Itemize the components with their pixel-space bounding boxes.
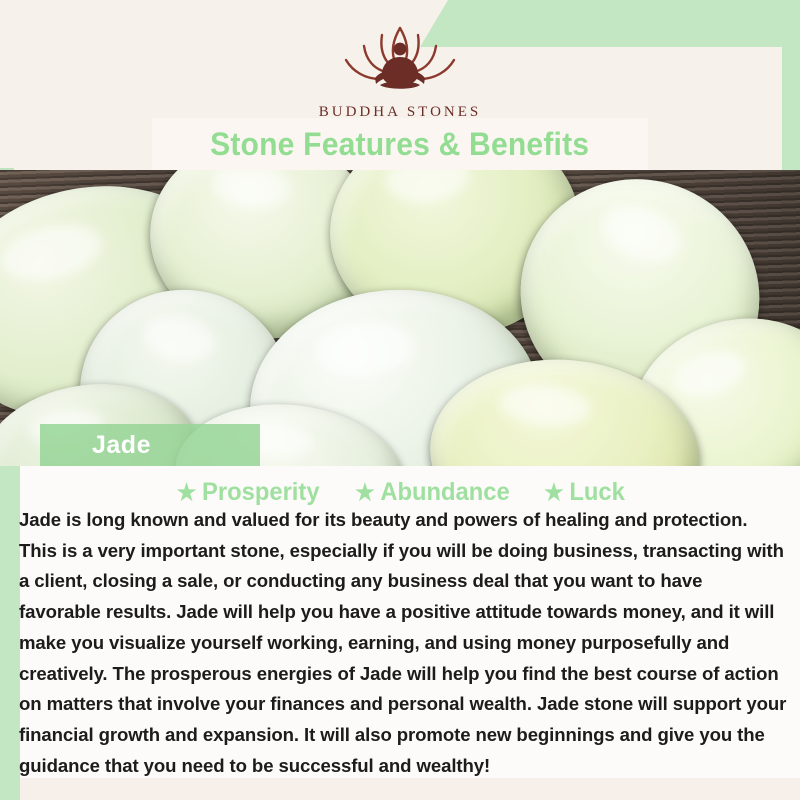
stone-info-poster: BUDDHA STONES Stone Features & Benefits … xyxy=(0,0,800,800)
star-icon: ★ xyxy=(355,481,375,504)
page-title: Stone Features & Benefits xyxy=(210,126,589,163)
star-icon: ★ xyxy=(177,481,197,504)
benefit-label: Luck xyxy=(569,478,624,507)
benefit-item-prosperity: ★ Prosperity xyxy=(177,478,320,507)
stone-name-bar: Jade xyxy=(40,424,260,466)
benefit-item-abundance: ★ Abundance xyxy=(355,478,510,507)
green-accent-left-band xyxy=(0,462,20,780)
stone-photo xyxy=(0,170,800,466)
benefits-row: ★ Prosperity ★ Abundance ★ Luck xyxy=(0,478,800,507)
title-banner: Stone Features & Benefits xyxy=(152,118,648,170)
stone-name-label: Jade xyxy=(92,431,151,460)
star-icon: ★ xyxy=(544,481,564,504)
stone-description: Jade is long known and valued for its be… xyxy=(19,505,789,781)
green-accent-bottom-foot xyxy=(0,778,20,800)
benefit-label: Abundance xyxy=(381,478,510,507)
lotus-meditation-icon xyxy=(320,22,480,100)
benefit-item-luck: ★ Luck xyxy=(544,478,625,507)
brand-logo: BUDDHA STONES xyxy=(0,22,800,121)
benefit-label: Prosperity xyxy=(202,478,319,507)
brand-name: BUDDHA STONES xyxy=(0,104,800,121)
